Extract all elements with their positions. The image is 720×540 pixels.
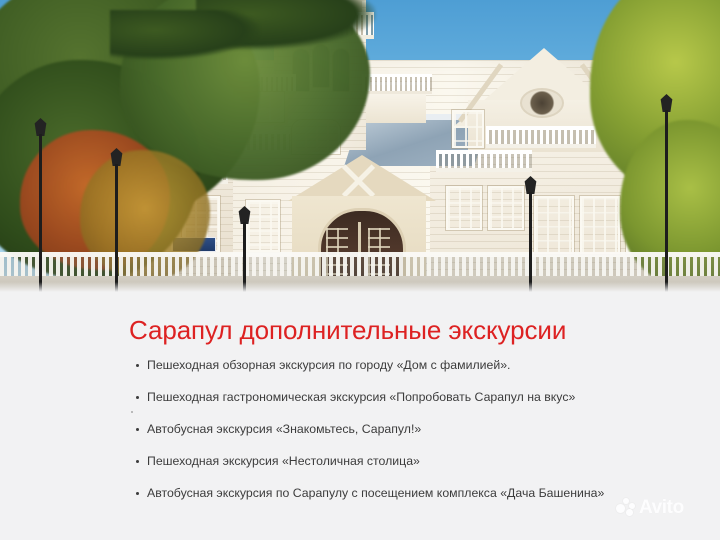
right-veranda-rail [436, 150, 532, 172]
window-upper-right-1 [452, 110, 484, 148]
excursion-list: Пешеходная обзорная экскурсия по городу … [133, 358, 693, 518]
window-right-3 [534, 196, 574, 254]
avito-wordmark: Avito [639, 498, 684, 517]
lamp-post-shaft [39, 134, 42, 292]
lamp-post-shaft [665, 110, 668, 292]
gable-balcony-rail [486, 126, 596, 148]
rose-window [520, 88, 564, 118]
overhanging-branch-2 [110, 10, 260, 60]
avito-watermark: Avito [616, 498, 684, 517]
avito-dot-1 [616, 504, 625, 513]
avito-dots-icon [616, 498, 635, 517]
lamp-post-shaft [115, 164, 118, 292]
photo-bottom-fade [0, 282, 720, 292]
portico-cross-beam [340, 162, 376, 198]
list-item: Пешеходная гастрономическая экскурсия «П… [133, 390, 693, 405]
avito-dot-4 [626, 509, 633, 516]
avito-dot-2 [623, 498, 629, 504]
list-item: Пешеходная обзорная экскурсия по городу … [133, 358, 693, 373]
lamp-post-shaft [529, 192, 532, 292]
list-item: Автобусная экскурсия «Знакомьтесь, Сарап… [133, 422, 693, 437]
page-title: Сарапул дополнительные экскурсии [129, 315, 566, 346]
right-oriel-rail [362, 74, 432, 94]
window-right-2 [488, 186, 524, 230]
window-right-4 [580, 196, 620, 254]
mansion-photo [0, 0, 720, 292]
list-item: Пешеходная экскурсия «Нестоличная столиц… [133, 454, 693, 469]
window-mid-1 [246, 200, 280, 252]
window-right-1 [446, 186, 482, 230]
list-item: Автобусная экскурсия по Сарапулу с посещ… [133, 486, 693, 501]
listing-image: Сарапул дополнительные экскурсии Пешеход… [0, 0, 720, 540]
